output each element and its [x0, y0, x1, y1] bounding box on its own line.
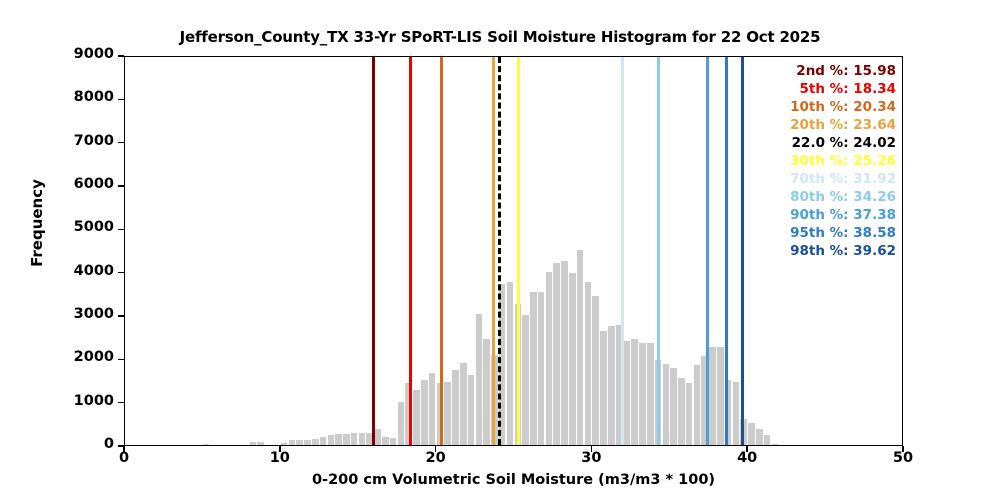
histogram-bar: [577, 250, 584, 445]
histogram-bar: [756, 429, 763, 445]
legend: 2nd %: 15.985th %: 18.3410th %: 20.3420t…: [790, 63, 896, 260]
histogram-bar: [312, 439, 319, 445]
x-tick-label: 0: [94, 450, 154, 466]
histogram-bar: [320, 437, 327, 445]
y-tick-mark: [118, 315, 124, 317]
percentile-line-70th: [621, 57, 624, 445]
y-tick-mark: [118, 229, 124, 231]
y-tick-mark: [118, 142, 124, 144]
histogram-bar: [631, 339, 638, 445]
histogram-bar: [709, 347, 716, 445]
histogram-bar: [624, 341, 631, 445]
histogram-bar: [335, 434, 342, 445]
histogram-bar: [592, 296, 599, 445]
histogram-bar: [670, 368, 677, 445]
y-tick-label: 9000: [44, 46, 114, 62]
y-tick-label: 2000: [44, 349, 114, 365]
x-tick-mark: [123, 446, 125, 452]
y-tick-mark: [118, 359, 124, 361]
histogram-bar: [398, 402, 405, 445]
histogram-bar: [600, 331, 607, 445]
y-tick-label: 1000: [44, 393, 114, 409]
percentile-line-90th: [706, 57, 709, 445]
legend-entry: 90th %: 37.38: [790, 207, 896, 225]
x-tick-label: 50: [873, 450, 933, 466]
histogram-bar: [444, 382, 451, 445]
histogram-bar: [328, 435, 335, 445]
histogram-bar: [748, 423, 755, 445]
histogram-bar: [663, 364, 670, 445]
x-tick-label: 20: [406, 450, 466, 466]
histogram-bar: [608, 326, 615, 445]
histogram-bar: [569, 273, 576, 445]
histogram-bar: [203, 444, 210, 445]
x-axis-label: 0-200 cm Volumetric Soil Moisture (m3/m3…: [124, 472, 903, 488]
histogram-bar: [289, 440, 296, 445]
histogram-bar: [507, 282, 514, 445]
y-tick-mark: [118, 402, 124, 404]
x-tick-label: 10: [250, 450, 310, 466]
histogram-bar: [343, 434, 350, 445]
percentile-line-95th: [725, 57, 728, 445]
y-tick-label: 4000: [44, 263, 114, 279]
x-tick-mark: [279, 446, 281, 452]
histogram-bar: [522, 315, 529, 445]
x-tick-mark: [435, 446, 437, 452]
x-tick-mark: [591, 446, 593, 452]
percentile-line-22-0: [498, 57, 501, 445]
percentile-line-2nd: [372, 57, 375, 445]
histogram-bar: [468, 375, 475, 445]
histogram-bar: [382, 437, 389, 445]
legend-entry: 2nd %: 15.98: [790, 63, 896, 81]
y-tick-label: 5000: [44, 219, 114, 235]
legend-entry: 70th %: 31.92: [790, 171, 896, 189]
x-tick-mark: [902, 446, 904, 452]
histogram-bar: [421, 380, 428, 445]
histogram-bar: [546, 272, 553, 445]
percentile-line-5th: [409, 57, 412, 445]
histogram-bar: [764, 435, 771, 445]
histogram-bar: [678, 378, 685, 445]
histogram-bar: [452, 370, 459, 445]
y-tick-mark: [118, 185, 124, 187]
percentile-line-10th: [440, 57, 443, 445]
legend-entry: 95th %: 38.58: [790, 225, 896, 243]
page-title: Jefferson_County_TX 33-Yr SPoRT-LIS Soil…: [0, 28, 1000, 46]
percentile-line-80th: [657, 57, 660, 445]
histogram-bar: [390, 438, 397, 445]
histogram-bar: [733, 382, 740, 445]
percentile-line-20th: [492, 57, 495, 445]
histogram-bar: [530, 292, 537, 445]
x-tick-label: 30: [561, 450, 621, 466]
y-tick-label: 8000: [44, 89, 114, 105]
y-tick-label: 3000: [44, 306, 114, 322]
plot-area: 2nd %: 15.985th %: 18.3410th %: 20.3420t…: [124, 56, 903, 446]
histogram-bar: [585, 282, 592, 445]
histogram-bar: [460, 363, 467, 445]
y-tick-mark: [118, 55, 124, 57]
histogram-bar: [304, 440, 311, 445]
y-tick-mark: [118, 272, 124, 274]
legend-entry: 80th %: 34.26: [790, 189, 896, 207]
legend-entry: 22.0 %: 24.02: [790, 135, 896, 153]
percentile-line-30th: [517, 57, 520, 445]
histogram-bar: [553, 263, 560, 445]
histogram-bar: [538, 292, 545, 445]
legend-entry: 5th %: 18.34: [790, 81, 896, 99]
histogram-bar: [686, 383, 693, 445]
y-tick-label: 6000: [44, 176, 114, 192]
legend-entry: 10th %: 20.34: [790, 99, 896, 117]
histogram-bar: [250, 442, 257, 445]
percentile-line-98th: [741, 57, 744, 445]
histogram-bar: [647, 343, 654, 445]
x-tick-mark: [746, 446, 748, 452]
histogram-bar: [483, 339, 490, 445]
histogram-bar: [429, 373, 436, 445]
histogram-bar: [351, 433, 358, 445]
histogram-bar: [476, 314, 483, 445]
legend-entry: 98th %: 39.62: [790, 243, 896, 261]
histogram-bar: [281, 443, 288, 445]
histogram-figure: Jefferson_County_TX 33-Yr SPoRT-LIS Soil…: [0, 0, 1000, 500]
legend-entry: 20th %: 23.64: [790, 117, 896, 135]
histogram-bar: [717, 347, 724, 445]
histogram-bar: [296, 440, 303, 445]
histogram-bars: [125, 57, 902, 445]
histogram-bar: [561, 261, 568, 445]
x-tick-label: 40: [717, 450, 777, 466]
histogram-bar: [257, 442, 264, 445]
y-tick-label: 7000: [44, 133, 114, 149]
histogram-bar: [694, 365, 701, 445]
y-tick-mark: [118, 99, 124, 101]
histogram-bar: [639, 343, 646, 445]
histogram-bar: [359, 433, 366, 445]
histogram-bar: [772, 444, 779, 445]
histogram-bar: [413, 390, 420, 445]
legend-entry: 30th %: 25.26: [790, 153, 896, 171]
